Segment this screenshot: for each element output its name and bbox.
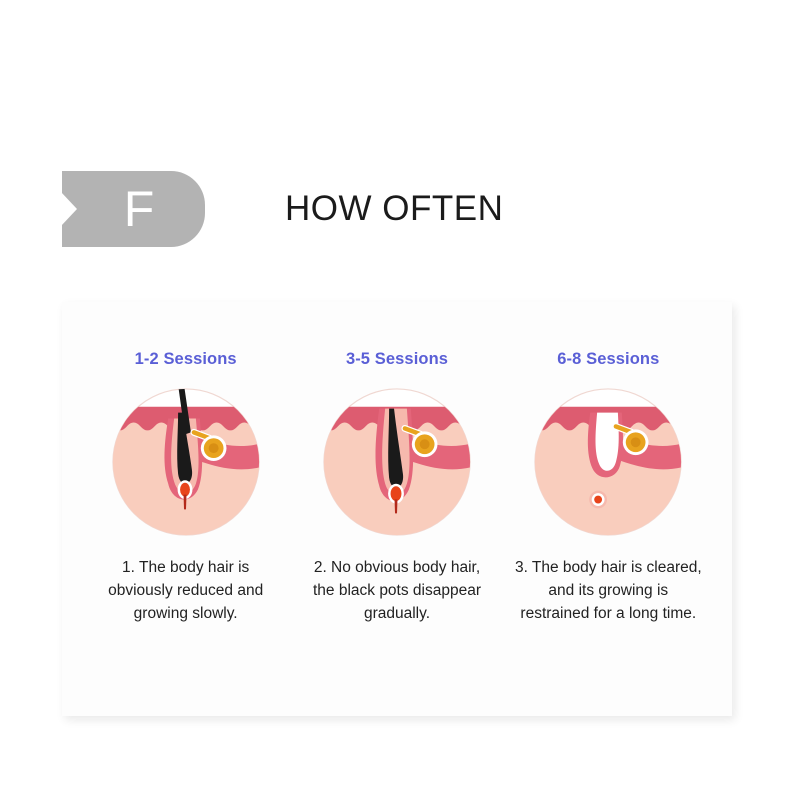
content-card: 1-2 Sessions [62, 302, 732, 716]
session-label-3: 6-8 Sessions [557, 350, 659, 369]
stage-caption-3: 3. The body hair is cleared, and its gro… [513, 557, 703, 625]
stage-column-1: 1-2 Sessions [80, 350, 291, 716]
stage-caption-1: 1. The body hair is obviously reduced an… [91, 557, 281, 625]
page-title: HOW OFTEN [285, 189, 503, 229]
section-badge-letter: F [112, 184, 156, 234]
stage-columns: 1-2 Sessions [62, 302, 732, 716]
stage-column-3: 6-8 Sessions [503, 350, 714, 716]
stage-caption-2: 2. No obvious body hair, the black pots … [302, 557, 492, 625]
section-header: F HOW OFTEN [62, 171, 503, 247]
section-badge: F [62, 171, 205, 247]
hair-follicle-stage-2-icon [318, 383, 476, 541]
hair-follicle-stage-1-icon [107, 383, 265, 541]
session-label-2: 3-5 Sessions [346, 350, 448, 369]
stage-column-2: 3-5 Sessions [291, 350, 502, 716]
infographic-page: F HOW OFTEN 1-2 Sessions [0, 0, 800, 800]
session-label-1: 1-2 Sessions [135, 350, 237, 369]
hair-follicle-stage-3-icon [529, 383, 687, 541]
